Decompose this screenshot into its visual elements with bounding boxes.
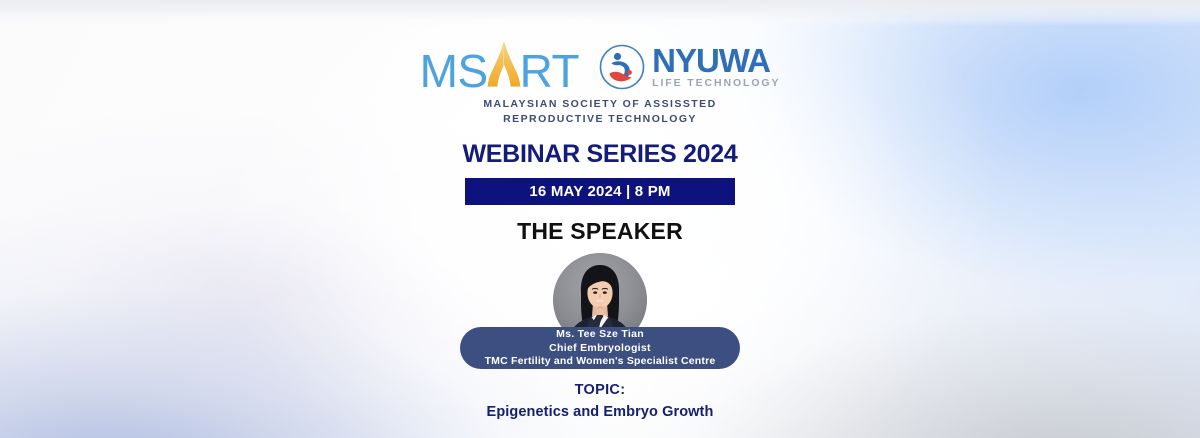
speaker-name-plate: Ms. Tee Sze Tian Chief Embryologist TMC … [460, 327, 740, 369]
nyuwa-logo: NYUWA LIFE TECHNOLOGY [599, 44, 780, 90]
webinar-poster: MS RT [0, 0, 1200, 438]
speaker-block: Ms. Tee Sze Tian Chief Embryologist TMC … [460, 253, 740, 369]
poster-content: MS RT [0, 0, 1200, 438]
speaker-role: Chief Embryologist [549, 342, 651, 355]
date-time-banner: 16 MAY 2024 | 8 PM [465, 178, 735, 205]
msart-logo-ms-text: MS [420, 48, 488, 94]
the-speaker-heading: THE SPEAKER [517, 218, 683, 245]
society-name-line2: REPRODUCTIVE TECHNOLOGY [483, 112, 716, 127]
logo-row: MS RT [420, 43, 781, 91]
topic-label: TOPIC: [575, 382, 626, 398]
msart-logo: MS RT [420, 41, 580, 94]
nyuwa-tagline-text: LIFE TECHNOLOGY [652, 78, 780, 89]
msart-logo-rt-text: RT [520, 48, 580, 94]
society-name: MALAYSIAN SOCIETY OF ASSISSTED REPRODUCT… [483, 97, 716, 127]
topic-value: Epigenetics and Embryo Growth [487, 404, 714, 420]
speaker-name: Ms. Tee Sze Tian [556, 328, 644, 341]
society-name-line1: MALAYSIAN SOCIETY OF ASSISSTED [483, 97, 716, 112]
nyuwa-circle-emblem-icon [599, 44, 645, 90]
nyuwa-wordmark: NYUWA LIFE TECHNOLOGY [652, 45, 780, 89]
webinar-series-title: WEBINAR SERIES 2024 [463, 140, 738, 169]
nyuwa-name-text: NYUWA [652, 45, 780, 76]
speaker-organization: TMC Fertility and Women's Specialist Cen… [485, 355, 716, 368]
flame-arrow-icon [487, 41, 521, 87]
